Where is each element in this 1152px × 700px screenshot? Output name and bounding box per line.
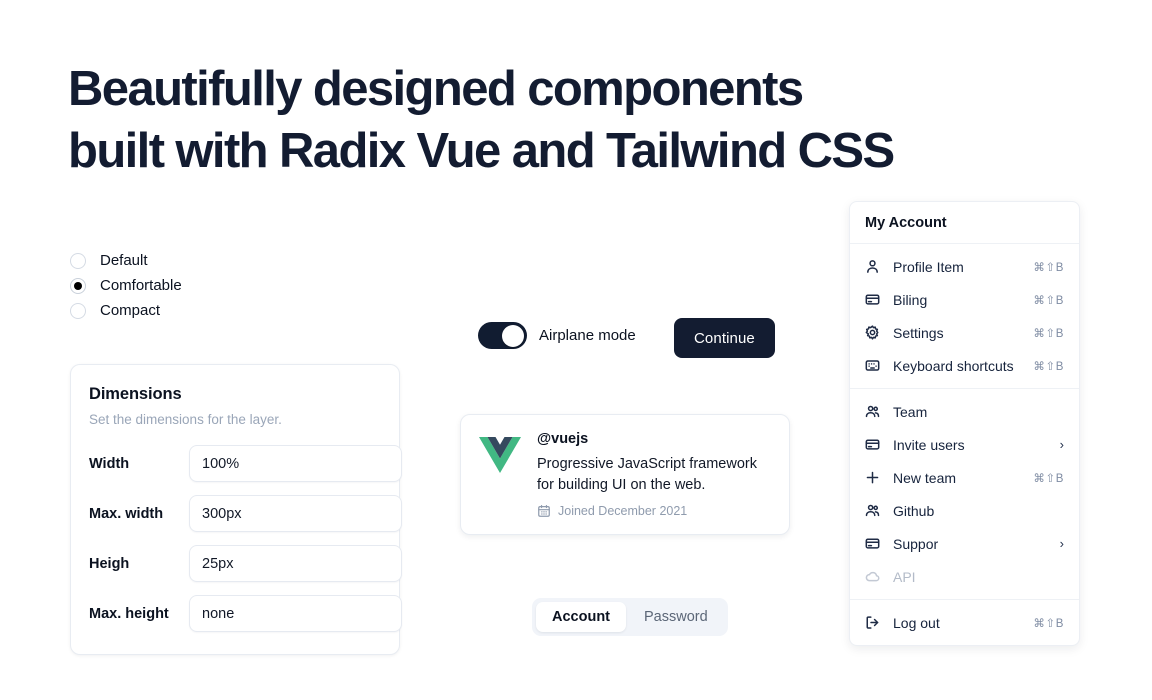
menu-item-label: Profile Item xyxy=(893,259,1025,275)
menu-item-shortcut: ⌘⇧B xyxy=(1033,260,1064,274)
switch-knob xyxy=(502,325,524,347)
menu-item-biling[interactable]: Biling⌘⇧B xyxy=(850,283,1079,316)
dimension-label: Max. width xyxy=(89,506,189,522)
radio-option-label: Compact xyxy=(100,303,160,318)
menu-group: Profile Item⌘⇧BBiling⌘⇧BSettings⌘⇧BKeybo… xyxy=(850,244,1079,388)
calendar-icon xyxy=(537,504,551,518)
chevron-right-icon: › xyxy=(1060,537,1064,550)
credit-card-icon xyxy=(865,292,883,307)
dimension-row: Heigh xyxy=(89,545,381,582)
menu-group: Log out⌘⇧B xyxy=(850,600,1079,645)
radio-group[interactable]: DefaultComfortableCompact xyxy=(70,248,182,323)
menu-item-label: Suppor xyxy=(893,536,1052,552)
radio-option-label: Default xyxy=(100,253,148,268)
dimension-input-1[interactable] xyxy=(189,495,402,532)
menu-item-shortcut: ⌘⇧B xyxy=(1033,471,1064,485)
menu-item-label: Invite users xyxy=(893,437,1052,453)
menu-item-label: Team xyxy=(893,404,1064,420)
menu-item-label: New team xyxy=(893,470,1025,486)
airplane-mode-row: Airplane mode xyxy=(478,322,636,349)
plus-icon xyxy=(865,470,883,485)
gear-icon xyxy=(865,325,883,340)
chevron-right-icon: › xyxy=(1060,438,1064,451)
airplane-mode-label: Airplane mode xyxy=(539,327,636,344)
dimension-row: Max. height xyxy=(89,595,381,632)
dimension-row: Max. width xyxy=(89,495,381,532)
dimensions-card-subtitle: Set the dimensions for the layer. xyxy=(89,412,381,427)
menu-item-team[interactable]: Team xyxy=(850,395,1079,428)
radio-indicator[interactable] xyxy=(70,303,86,319)
vue-logo-icon xyxy=(479,437,521,475)
users-icon xyxy=(865,503,883,518)
credit-card-icon xyxy=(865,437,883,452)
page-title: Beautifully designed components built wi… xyxy=(68,58,1028,182)
menu-item-label: Keyboard shortcuts xyxy=(893,358,1025,374)
radio-option-compact[interactable]: Compact xyxy=(70,298,182,323)
vue-handle: @vuejs xyxy=(537,431,771,447)
menu-item-invite-users[interactable]: Invite users› xyxy=(850,428,1079,461)
menu-item-label: Biling xyxy=(893,292,1025,308)
menu-item-suppor[interactable]: Suppor› xyxy=(850,527,1079,560)
menu-item-label: Log out xyxy=(893,615,1025,631)
tab-password[interactable]: Password xyxy=(628,602,724,632)
menu-item-shortcut: ⌘⇧B xyxy=(1033,326,1064,340)
menu-item-shortcut: ⌘⇧B xyxy=(1033,293,1064,307)
dimension-row: Width xyxy=(89,445,381,482)
dimensions-card: Dimensions Set the dimensions for the la… xyxy=(70,364,400,655)
menu-item-log-out[interactable]: Log out⌘⇧B xyxy=(850,606,1079,639)
radio-option-label: Comfortable xyxy=(100,278,182,293)
keyboard-icon xyxy=(865,358,883,373)
dimension-label: Max. height xyxy=(89,606,189,622)
menu-item-profile-item[interactable]: Profile Item⌘⇧B xyxy=(850,250,1079,283)
tab-account[interactable]: Account xyxy=(536,602,626,632)
menu-item-label: Github xyxy=(893,503,1064,519)
airplane-mode-switch[interactable] xyxy=(478,322,527,349)
menu-item-shortcut: ⌘⇧B xyxy=(1033,616,1064,630)
radio-option-default[interactable]: Default xyxy=(70,248,182,273)
menu-item-settings[interactable]: Settings⌘⇧B xyxy=(850,316,1079,349)
vue-joined-row: Joined December 2021 xyxy=(537,504,771,518)
user-icon xyxy=(865,259,883,274)
page-title-line-1: Beautifully designed components xyxy=(68,58,1028,120)
radio-option-comfortable[interactable]: Comfortable xyxy=(70,273,182,298)
page-title-line-2: built with Radix Vue and Tailwind CSS xyxy=(68,120,1028,182)
vue-hover-card: @vuejs Progressive JavaScript framework … xyxy=(460,414,790,535)
vue-description: Progressive JavaScript framework for bui… xyxy=(537,454,771,496)
menu-item-shortcut: ⌘⇧B xyxy=(1033,359,1064,373)
continue-button[interactable]: Continue xyxy=(674,318,775,358)
cloud-icon xyxy=(865,569,883,584)
radio-dot xyxy=(74,282,82,290)
radio-indicator[interactable] xyxy=(70,253,86,269)
dimension-input-2[interactable] xyxy=(189,545,402,582)
menu-item-github[interactable]: Github xyxy=(850,494,1079,527)
menu-item-new-team[interactable]: New team⌘⇧B xyxy=(850,461,1079,494)
vue-hover-card-body: @vuejs Progressive JavaScript framework … xyxy=(537,431,771,518)
account-dropdown-menu: My Account Profile Item⌘⇧BBiling⌘⇧BSetti… xyxy=(849,201,1080,646)
menu-item-keyboard-shortcuts[interactable]: Keyboard shortcuts⌘⇧B xyxy=(850,349,1079,382)
tabs[interactable]: AccountPassword xyxy=(532,598,728,636)
menu-item-api: API xyxy=(850,560,1079,593)
dimensions-card-title: Dimensions xyxy=(89,385,381,404)
dimension-input-0[interactable] xyxy=(189,445,402,482)
menu-group: TeamInvite users›New team⌘⇧BGithubSuppor… xyxy=(850,389,1079,599)
vue-joined-text: Joined December 2021 xyxy=(558,504,687,518)
page-root: Beautifully designed components built wi… xyxy=(0,0,1152,700)
dimension-label: Heigh xyxy=(89,556,189,572)
logout-icon xyxy=(865,615,883,630)
menu-item-label: Settings xyxy=(893,325,1025,341)
radio-indicator[interactable] xyxy=(70,278,86,294)
menu-item-label: API xyxy=(893,569,1064,585)
dimension-label: Width xyxy=(89,456,189,472)
menu-title: My Account xyxy=(850,202,1079,243)
dimension-input-3[interactable] xyxy=(189,595,402,632)
users-icon xyxy=(865,404,883,419)
credit-card-icon xyxy=(865,536,883,551)
menu-groups: Profile Item⌘⇧BBiling⌘⇧BSettings⌘⇧BKeybo… xyxy=(850,244,1079,645)
dimensions-fields: WidthMax. widthHeighMax. height xyxy=(89,445,381,632)
